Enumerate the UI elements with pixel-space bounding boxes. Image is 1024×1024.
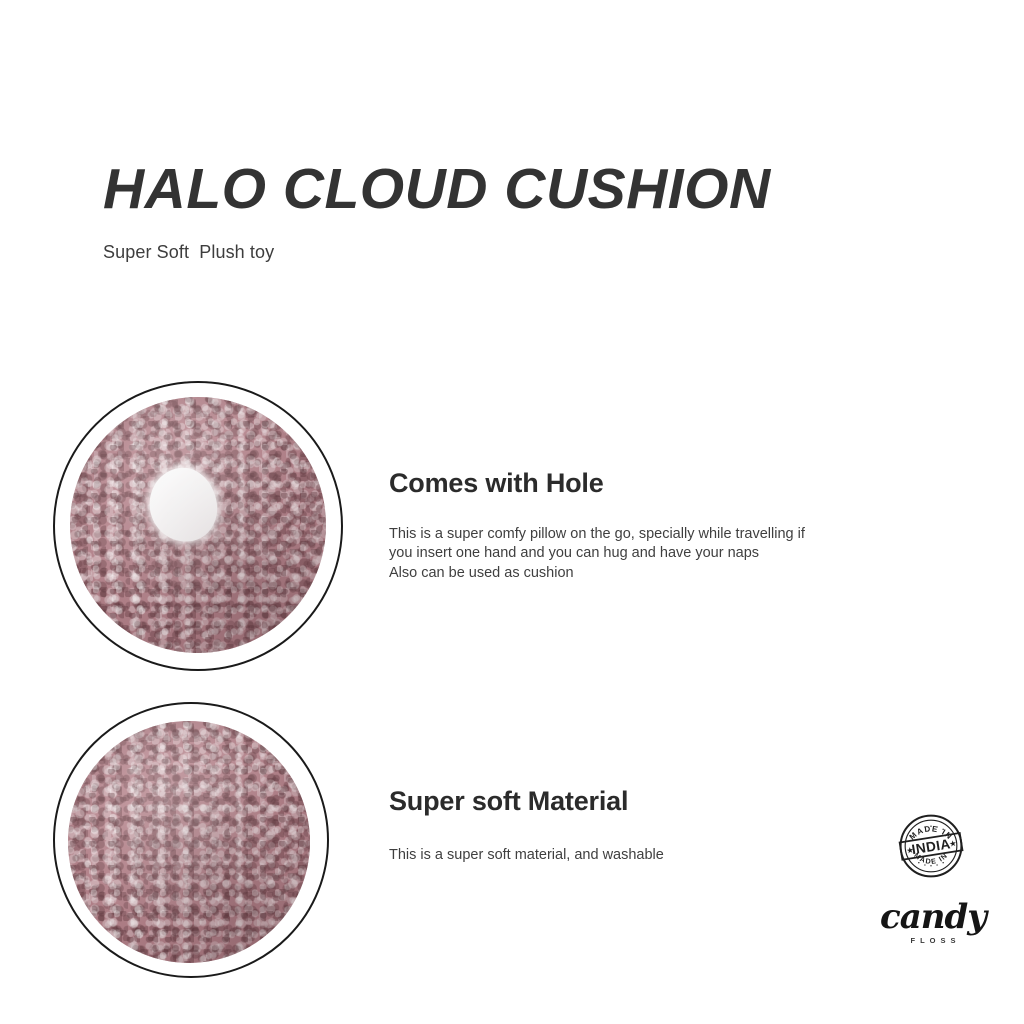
- feature-heading: Super soft Material: [389, 787, 819, 817]
- cushion-hole: [145, 463, 221, 546]
- plush-texture: [68, 721, 310, 963]
- brand-logo: candy FLOSS: [878, 900, 988, 945]
- feature-description: This is a super comfy pillow on the go, …: [389, 525, 819, 584]
- feature-text-material: Super soft Material This is a super soft…: [389, 787, 819, 865]
- feature-text-hole: Comes with Hole This is a super comfy pi…: [389, 469, 819, 583]
- svg-text:★: ★: [906, 845, 915, 856]
- product-subtitle: Super Soft Plush toy: [103, 242, 903, 263]
- page-title: HALO CLOUD CUSHION: [103, 160, 903, 220]
- made-in-india-stamp-icon: MADE IN MADE IN INDIA ★ ★: [893, 808, 969, 884]
- svg-text:★: ★: [948, 838, 957, 849]
- product-infographic: HALO CLOUD CUSHION Super Soft Plush toy …: [0, 0, 1024, 1024]
- feature-description: This is a super soft material, and washa…: [389, 846, 819, 866]
- feature-heading: Comes with Hole: [389, 469, 819, 499]
- plush-texture: [70, 397, 326, 653]
- brand-tagline: FLOSS: [878, 936, 988, 945]
- product-photo-donut: [70, 397, 326, 653]
- header: HALO CLOUD CUSHION Super Soft Plush toy: [103, 160, 903, 263]
- brand-name: candy: [878, 900, 988, 934]
- product-photo-texture: [68, 721, 310, 963]
